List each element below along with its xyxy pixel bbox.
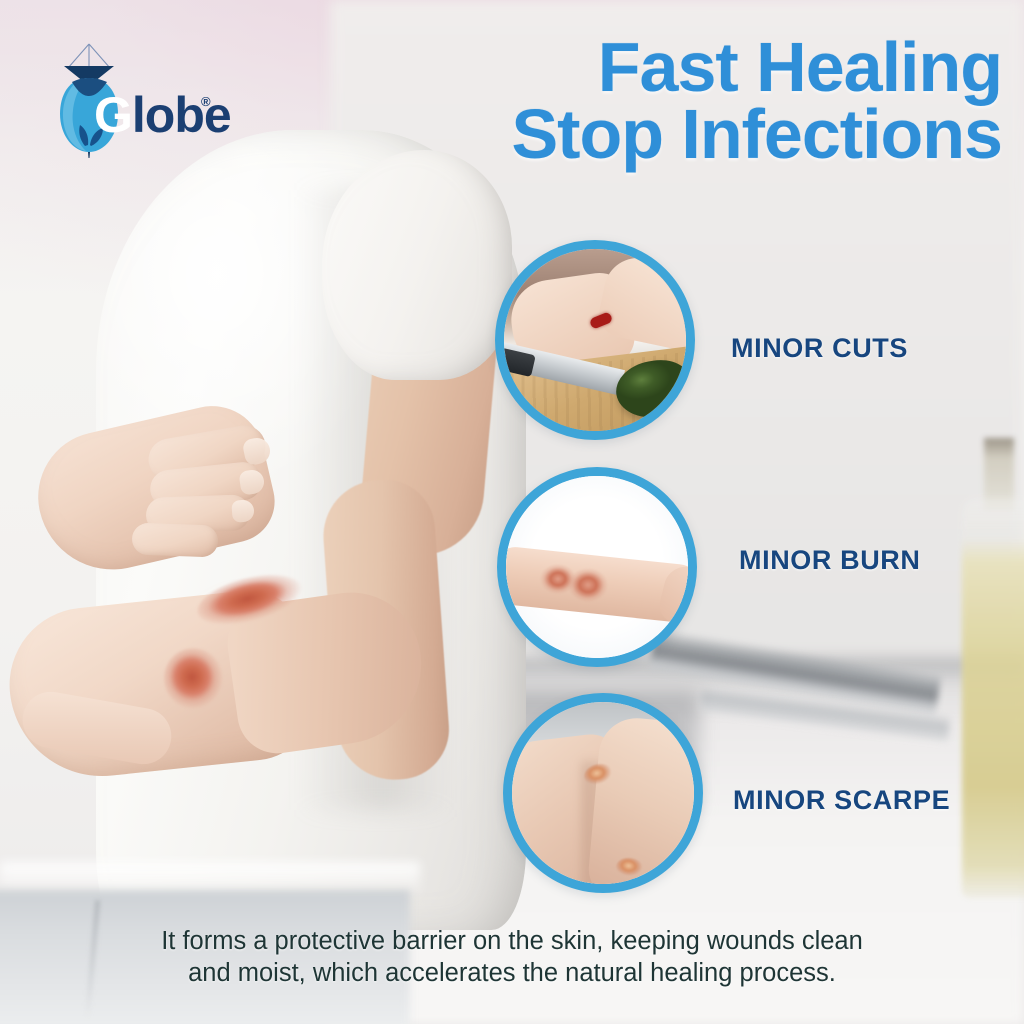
feature-label-minor-cuts: MINOR CUTS — [731, 333, 908, 364]
forearm-burn-photo-icon — [506, 476, 688, 658]
feature-photo-circle — [497, 467, 697, 667]
page-title: Fast Healing Stop Infections — [342, 34, 1002, 167]
feature-label-minor-burn: MINOR BURN — [739, 545, 921, 576]
photo-burn-mark — [568, 568, 608, 602]
feature-photo-circle — [495, 240, 695, 440]
model-tshirt-sleeve — [322, 150, 512, 380]
headline-line-2: Stop Infections — [342, 101, 1002, 168]
background-oil-bottle — [962, 498, 1024, 898]
finger — [131, 523, 218, 558]
registered-trademark-symbol: ® — [201, 94, 211, 109]
brand-wordmark-initial: G — [94, 87, 132, 143]
brand-logo[interactable]: Globe ® — [58, 42, 228, 158]
feature-label-minor-scarpe: MINOR SCARPE — [733, 785, 950, 816]
caption-line-1: It forms a protective barrier on the ski… — [62, 925, 962, 957]
caption-line-2: and moist, which accelerates the natural… — [62, 957, 962, 989]
headline-line-1: Fast Healing — [342, 34, 1002, 101]
heel-blister-feet-photo-icon — [512, 702, 694, 884]
advertisement-canvas: Globe ® Fast Healing Stop Infections MIN… — [0, 0, 1024, 1024]
cut-finger-knife-cutting-board-avocado-photo-icon — [504, 249, 686, 431]
feature-photo-circle — [503, 693, 703, 893]
photo-foot-right — [586, 715, 703, 893]
caption-text: It forms a protective barrier on the ski… — [62, 925, 962, 989]
brand-wordmark-rest: lobe — [132, 87, 231, 143]
